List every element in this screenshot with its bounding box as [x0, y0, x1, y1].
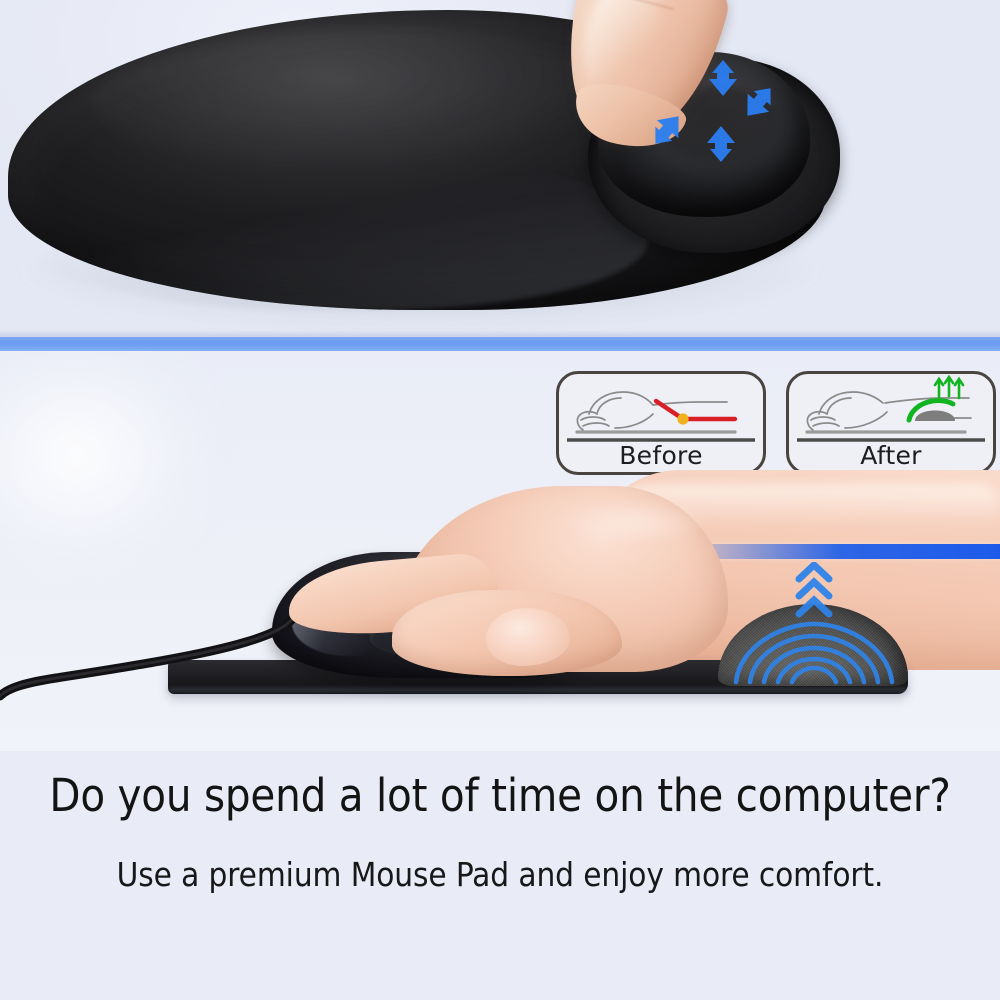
mouse-cable — [0, 600, 320, 710]
comparison-card-after[interactable]: After — [786, 371, 996, 475]
page-subtitle: Use a premium Mouse Pad and enjoy more c… — [0, 855, 1000, 894]
background-blur-left — [0, 351, 220, 581]
knuckle-highlight — [560, 500, 710, 544]
gel-mousepad-hero-photo — [0, 0, 1000, 337]
after-posture-illustration — [789, 374, 993, 446]
pressure-arrow-up-icon — [706, 58, 740, 98]
upward-support-ripples — [706, 562, 920, 690]
marketing-copy-panel: Do you spend a lot of time on the comput… — [0, 751, 1000, 1000]
pressure-arrow-up-right-icon — [742, 82, 776, 122]
divider-upper-shade — [0, 330, 1000, 337]
comparison-label-after: After — [789, 440, 993, 472]
before-posture-illustration — [559, 374, 763, 446]
pressure-arrow-down-left-icon — [650, 110, 684, 150]
pressure-arrow-down-icon — [704, 124, 738, 164]
blue-divider-band — [0, 337, 1000, 351]
comparison-label-before: Before — [559, 440, 763, 472]
product-marketing-poster: Before — [0, 0, 1000, 1000]
before-after-comparison: Before — [556, 371, 996, 475]
comparison-card-before[interactable]: Before — [556, 371, 766, 475]
page-title: Do you spend a lot of time on the comput… — [0, 769, 1000, 822]
